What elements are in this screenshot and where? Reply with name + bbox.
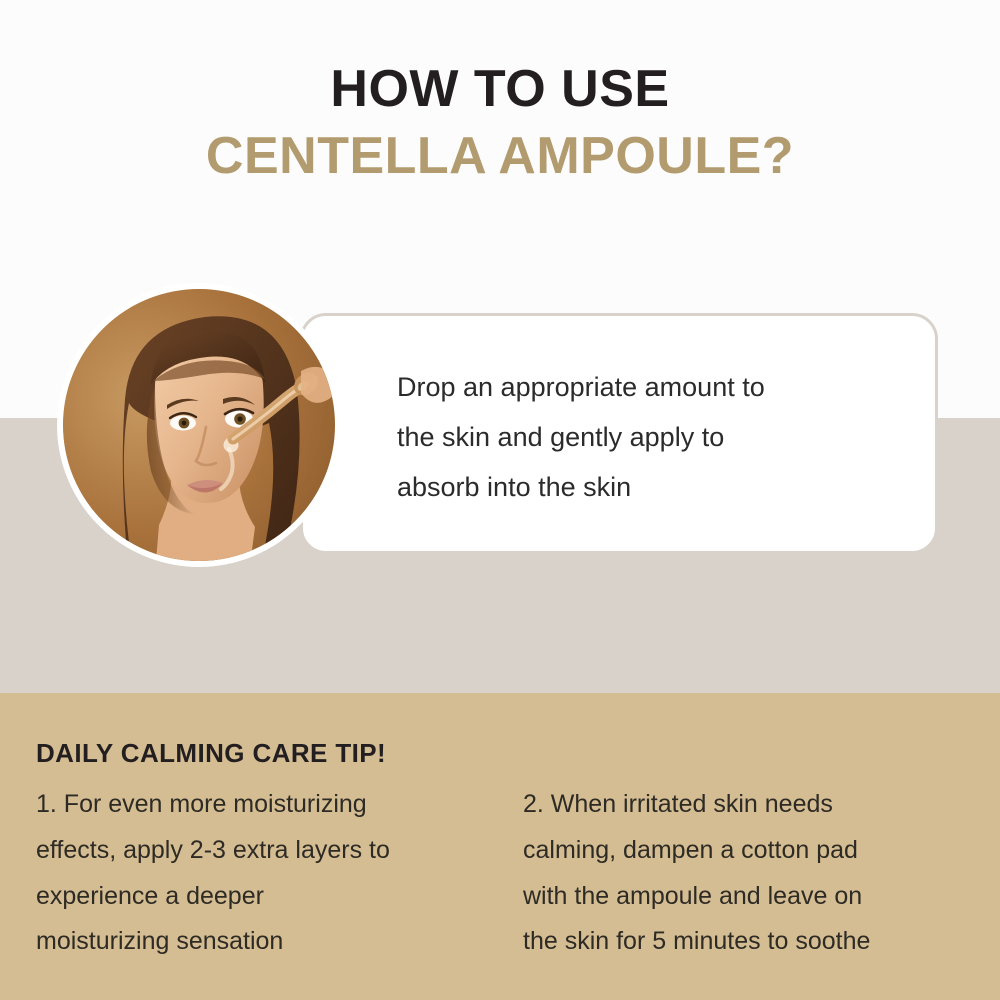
instruction-line: Drop an appropriate amount to xyxy=(397,362,897,412)
tip-column-1: 1. For even more moisturizing effects, a… xyxy=(36,782,489,965)
tip-line: the skin for 5 minutes to soothe xyxy=(523,919,976,965)
tip-line: 1. For even more moisturizing xyxy=(36,782,489,828)
page-title-line1: HOW TO USE xyxy=(0,62,1000,117)
portrait-photo-image xyxy=(63,289,335,561)
how-to-use-infographic: HOW TO USE CENTELLA AMPOULE? Drop an app… xyxy=(0,0,1000,1000)
tip-line: 2. When irritated skin needs xyxy=(523,782,976,828)
tip-columns: 1. For even more moisturizing effects, a… xyxy=(36,782,976,965)
tip-line: moisturizing sensation xyxy=(36,919,489,965)
instruction-card: Drop an appropriate amount to the skin a… xyxy=(300,313,938,554)
page-title: HOW TO USE CENTELLA AMPOULE? xyxy=(0,62,1000,184)
tip-line: experience a deeper xyxy=(36,874,489,920)
instruction-line: the skin and gently apply to xyxy=(397,412,897,462)
portrait-photo-illustration xyxy=(63,289,335,561)
instruction-card-text: Drop an appropriate amount to the skin a… xyxy=(397,362,897,513)
page-title-line2: CENTELLA AMPOULE? xyxy=(0,129,1000,184)
tip-section-heading: DAILY CALMING CARE TIP! xyxy=(36,738,386,769)
tip-column-2: 2. When irritated skin needs calming, da… xyxy=(523,782,976,965)
tip-line: with the ampoule and leave on xyxy=(523,874,976,920)
instruction-line: absorb into the skin xyxy=(397,462,897,512)
portrait-photo xyxy=(57,283,341,567)
tip-line: calming, dampen a cotton pad xyxy=(523,828,976,874)
tip-line: effects, apply 2-3 extra layers to xyxy=(36,828,489,874)
